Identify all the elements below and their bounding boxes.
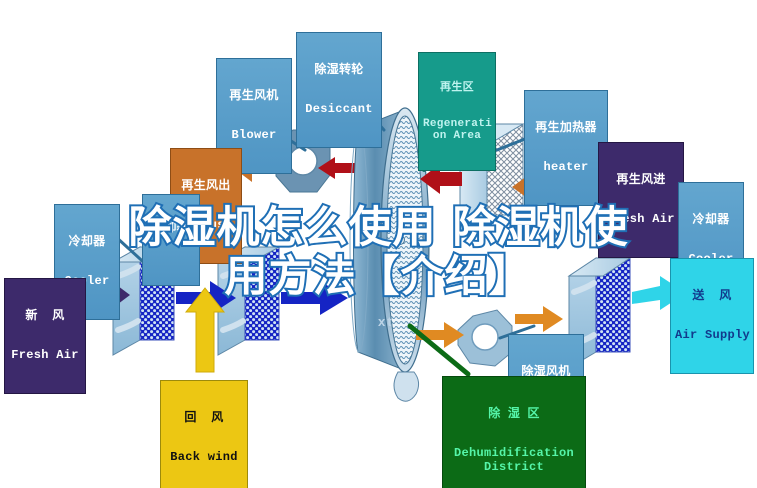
- label-regeneration-area-cn: 再生区: [423, 81, 491, 93]
- arrow-cooled-air-2: [281, 281, 348, 315]
- label-regeneration-fresh-air: 再生风进 Fresh Air: [598, 142, 684, 258]
- label-regeneration-fresh-air-en: Fresh Air: [603, 213, 679, 226]
- label-regeneration-heater-en: heater: [529, 161, 603, 174]
- label-back-wind: 回 风 Back wind: [160, 380, 248, 488]
- label-air-supply-cn: 送 风: [675, 289, 749, 302]
- label-regeneration-heater: 再生加热器 heater: [524, 90, 608, 206]
- label-back-wind-cn: 回 风: [165, 411, 243, 424]
- label-cooler-left-2: 冷却器: [142, 194, 200, 286]
- label-regeneration-area-en: Regenerati on Area: [423, 118, 491, 143]
- label-dehumidification-district-cn: 除 湿 区: [447, 407, 581, 420]
- label-air-supply: 送 风 Air Supply: [670, 258, 754, 374]
- label-fresh-air-inlet: 新 风 Fresh Air: [4, 278, 86, 394]
- label-cooler-left-2-cn: 冷却器: [147, 222, 195, 234]
- arrow-dry-air-2: [515, 306, 563, 332]
- label-cooler-right-cn: 冷却器: [683, 213, 739, 226]
- label-regeneration-blower-cn: 再生风机: [221, 89, 287, 102]
- label-dehumidification-district: 除 湿 区 Dehumidification District: [442, 376, 586, 488]
- label-fresh-air-inlet-cn: 新 风: [9, 309, 81, 322]
- label-back-wind-en: Back wind: [165, 451, 243, 464]
- label-desiccant-rotor-en: Desiccant: [301, 103, 377, 116]
- label-regeneration-fresh-air-cn: 再生风进: [603, 173, 679, 186]
- label-cooler-left-1-cn: 冷却器: [59, 235, 115, 248]
- label-desiccant-rotor-cn: 除湿转轮: [301, 63, 377, 76]
- label-air-supply-en: Air Supply: [675, 329, 749, 342]
- label-desiccant-rotor: 除湿转轮 Desiccant: [296, 32, 382, 148]
- label-dehumidification-district-en: Dehumidification District: [447, 447, 581, 474]
- label-regeneration-area: 再生区 Regenerati on Area: [418, 52, 496, 171]
- diagram-canvas: xt 再生风机 Blower 除湿转轮 Desiccant 再生区 Regene…: [0, 0, 757, 488]
- svg-text:xt: xt: [378, 314, 394, 329]
- label-exhaust-cn: 再生风出: [175, 179, 237, 192]
- label-fresh-air-inlet-en: Fresh Air: [9, 349, 81, 362]
- label-regeneration-heater-cn: 再生加热器: [529, 121, 603, 134]
- label-regeneration-blower-en: Blower: [221, 129, 287, 142]
